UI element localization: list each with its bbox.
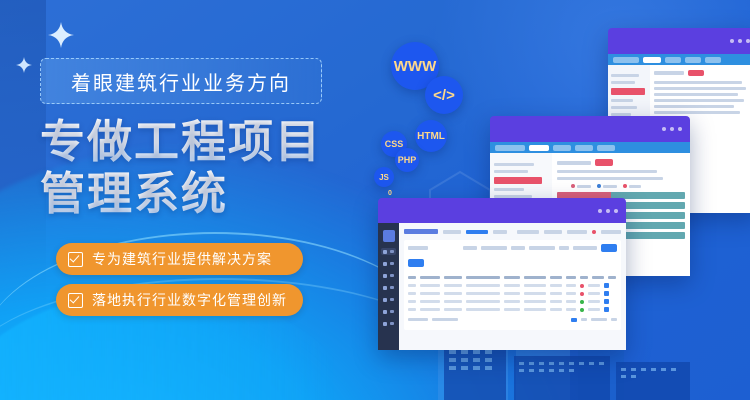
mockup-front-titlebar — [378, 198, 626, 223]
feature-badge-1-label: 专为建筑行业提供解决方案 — [92, 249, 272, 269]
danger-button — [688, 70, 704, 76]
check-box-icon — [68, 293, 83, 308]
table-row[interactable] — [408, 283, 617, 288]
menu-icon — [383, 310, 387, 314]
filter-and-table-card — [404, 240, 621, 330]
nav-tab-active — [643, 57, 661, 63]
promo-banner: 着眼建筑行业业务方向 专做工程项目 管理系统 专为建筑行业提供解决方案 落地执行… — [0, 0, 750, 400]
table-row[interactable] — [408, 307, 617, 312]
row-action-icon[interactable] — [604, 291, 609, 296]
bubble-code: </> — [425, 76, 463, 114]
sidebar-item-projects[interactable] — [381, 260, 396, 267]
window-dot-icon — [670, 127, 674, 131]
nav-tab — [665, 57, 681, 63]
window-dot-icon — [746, 39, 750, 43]
subtitle-badge: 着眼建筑行业业务方向 — [40, 58, 322, 104]
menu-icon — [383, 274, 387, 278]
filter-bar — [408, 244, 617, 251]
headline-line-2: 管理系统 — [40, 168, 340, 220]
dashboard-mockup-front — [378, 198, 626, 350]
nav-tab — [685, 57, 701, 63]
chart-legend — [571, 184, 685, 188]
feature-badge-2-label: 落地执行行业数字化管理创新 — [92, 290, 287, 310]
feature-badge-list: 专为建筑行业提供解决方案 落地执行行业数字化管理创新 — [56, 243, 303, 316]
notification-badge — [592, 230, 596, 234]
nav-tab — [597, 145, 615, 151]
subtitle-text: 着眼建筑行业业务方向 — [71, 67, 291, 96]
nav-logo — [613, 57, 639, 63]
sidebar-menu — [381, 248, 396, 327]
headline-line-1: 专做工程项目 — [40, 116, 340, 168]
sidebar-item-dashboard[interactable] — [381, 248, 396, 255]
danger-button — [595, 159, 613, 166]
row-action-icon[interactable] — [604, 299, 609, 304]
status-dot-icon — [580, 308, 584, 312]
mockup-front-topbar — [404, 227, 621, 236]
sparkle-icon-small — [16, 57, 32, 73]
mockup-front-body — [378, 223, 626, 350]
window-dot-icon — [598, 209, 602, 213]
legend-dot-icon — [571, 184, 575, 188]
data-table — [408, 275, 617, 312]
window-dot-icon — [606, 209, 610, 213]
window-dot-icon — [662, 127, 666, 131]
status-dot-icon — [580, 284, 584, 288]
search-button[interactable] — [601, 244, 617, 252]
menu-icon — [383, 286, 387, 290]
mockup-mid-titlebar — [490, 116, 690, 142]
app-logo-icon — [383, 230, 395, 242]
sparkle-icon — [48, 22, 74, 48]
mockup-back-titlebar — [608, 28, 750, 54]
sidebar-selected-row — [494, 177, 542, 184]
bubble-html: HTML — [415, 120, 447, 152]
window-dot-icon — [614, 209, 618, 213]
sidebar-item-finance[interactable] — [381, 296, 396, 303]
window-dot-icon — [730, 39, 734, 43]
nav-tab — [553, 145, 571, 151]
nav-tab — [575, 145, 593, 151]
page-title: 专做工程项目 管理系统 — [40, 116, 340, 220]
table-pagination[interactable] — [408, 316, 617, 323]
sidebar-item-reports[interactable] — [381, 308, 396, 315]
table-row[interactable] — [408, 291, 617, 296]
sidebar-item-settings[interactable] — [381, 320, 396, 327]
row-action-icon[interactable] — [604, 307, 609, 312]
check-box-icon — [68, 252, 83, 267]
table-row[interactable] — [408, 299, 617, 304]
nav-logo — [495, 145, 525, 151]
row-action-icon[interactable] — [604, 283, 609, 288]
window-dot-icon — [678, 127, 682, 131]
mockup-front-main — [399, 223, 626, 350]
menu-icon — [383, 262, 387, 266]
mockup-front-sidebar — [378, 223, 399, 350]
window-dot-icon — [738, 39, 742, 43]
status-dot-icon — [580, 292, 584, 296]
mockup-back-topnav — [608, 54, 750, 65]
nav-tab-active — [529, 145, 549, 151]
sidebar-item-contracts[interactable] — [381, 272, 396, 279]
feature-badge-1[interactable]: 专为建筑行业提供解决方案 — [56, 243, 303, 275]
nav-tab — [705, 57, 721, 63]
bubble-php: PHP — [395, 148, 419, 172]
add-button[interactable] — [408, 259, 424, 267]
legend-dot-icon — [597, 184, 601, 188]
headline-block: 着眼建筑行业业务方向 专做工程项目 管理系统 — [40, 58, 340, 220]
sidebar-selected-row — [611, 88, 645, 95]
menu-icon — [383, 298, 387, 302]
menu-icon — [383, 322, 387, 326]
mockup-mid-topnav — [490, 142, 690, 153]
feature-badge-2[interactable]: 落地执行行业数字化管理创新 — [56, 284, 303, 316]
menu-icon — [383, 250, 387, 254]
table-header-row — [408, 275, 617, 280]
status-dot-icon — [580, 300, 584, 304]
sidebar-item-materials[interactable] — [381, 284, 396, 291]
bubble-js: JS — [374, 167, 394, 187]
legend-dot-icon — [623, 184, 627, 188]
